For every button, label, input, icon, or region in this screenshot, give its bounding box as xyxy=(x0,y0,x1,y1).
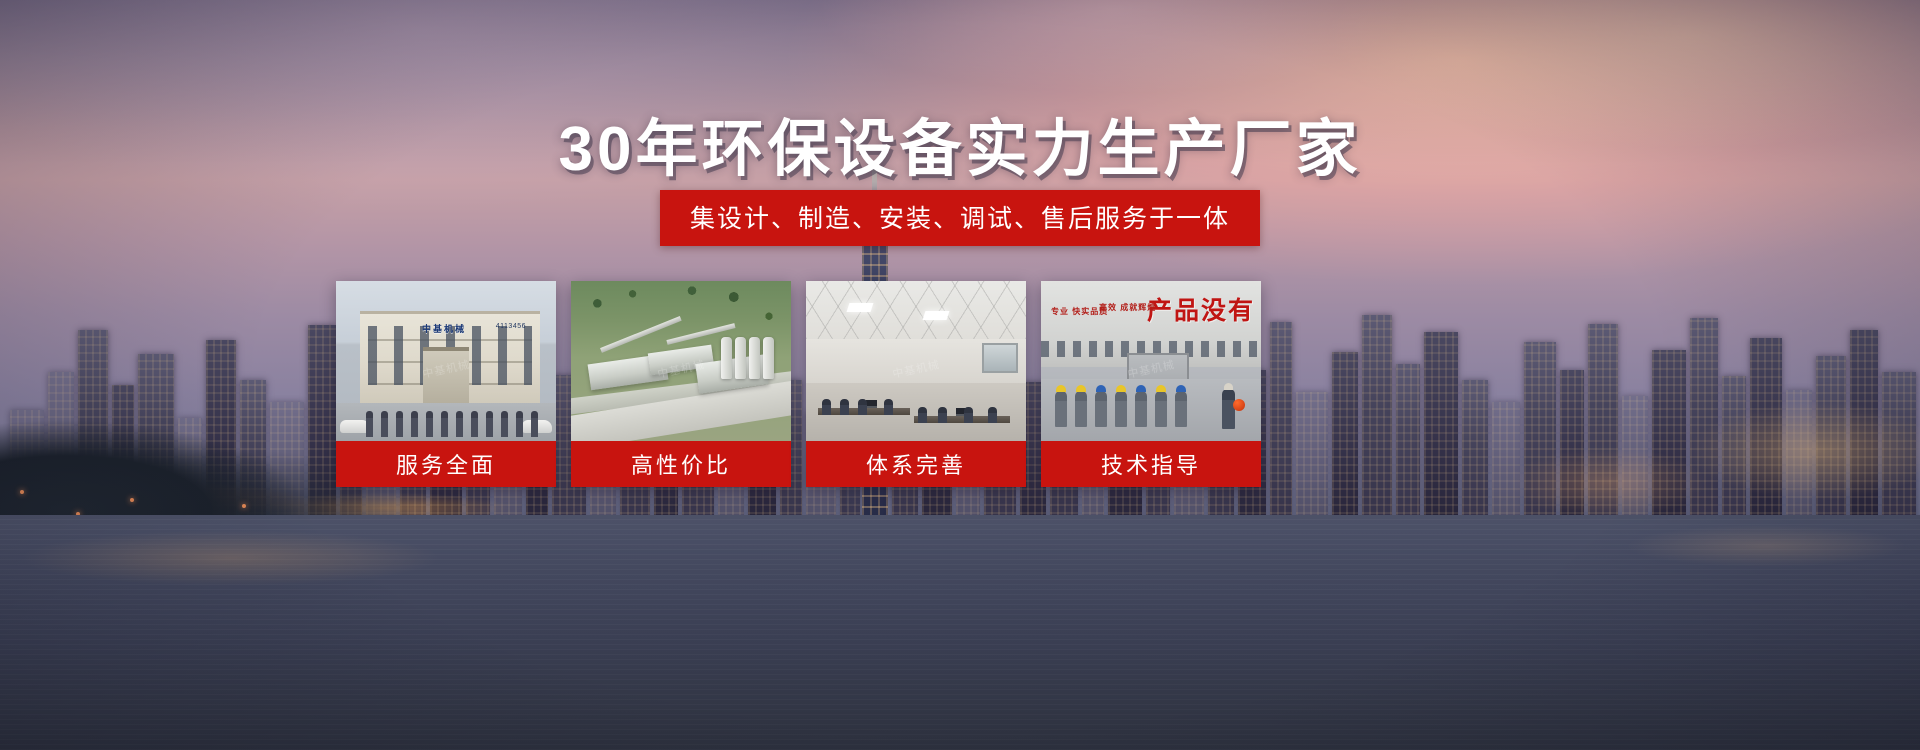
card-photo-office-building: 中基机械 4113456 中基机械 xyxy=(336,281,556,441)
banner-subtitle-badge: 集设计、制造、安装、调试、售后服务于一体 xyxy=(660,190,1260,246)
factory-banner-text: 产品没有 xyxy=(1147,291,1255,327)
factory-slogan-right: 高效 成就辉煌 xyxy=(1099,303,1156,313)
feature-card[interactable]: 产品没有 专业 快实品质 高效 成就辉煌 xyxy=(1041,281,1261,487)
building-sign-text: 中基机械 xyxy=(422,322,466,335)
feature-card[interactable]: 中基机械 高性价比 xyxy=(571,281,791,487)
card-label: 体系完善 xyxy=(806,441,1026,487)
card-photo-office-interior: 中基机械 xyxy=(806,281,1026,441)
banner-content: 30年环保设备实力生产厂家 集设计、制造、安装、调试、售后服务于一体 中基机械 … xyxy=(0,0,1920,750)
card-photo-factory-workers: 产品没有 专业 快实品质 高效 成就辉煌 xyxy=(1041,281,1261,441)
building-phone-number: 4113456 xyxy=(496,323,526,330)
feature-card[interactable]: 中基机械 体系完善 xyxy=(806,281,1026,487)
card-label: 服务全面 xyxy=(336,441,556,487)
feature-card-list: 中基机械 4113456 中基机械 服务全面 xyxy=(336,281,1584,487)
card-photo-industrial-plant: 中基机械 xyxy=(571,281,791,441)
hero-banner: 30年环保设备实力生产厂家 集设计、制造、安装、调试、售后服务于一体 中基机械 … xyxy=(0,0,1920,750)
banner-headline: 30年环保设备实力生产厂家 xyxy=(0,98,1920,188)
card-label: 高性价比 xyxy=(571,441,791,487)
feature-card[interactable]: 中基机械 4113456 中基机械 服务全面 xyxy=(336,281,556,487)
card-label: 技术指导 xyxy=(1041,441,1261,487)
